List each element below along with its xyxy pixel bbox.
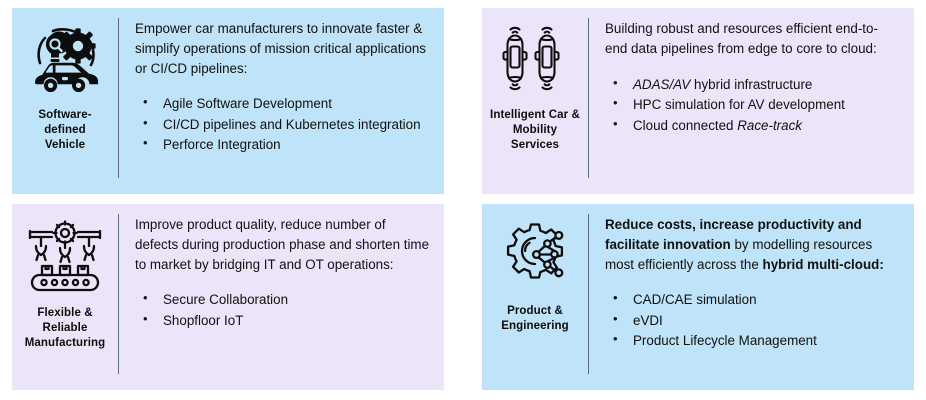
list-item: Perforce Integration bbox=[135, 135, 430, 154]
text-column: Building robust and resources efficient … bbox=[589, 8, 914, 194]
panel-description: Improve product quality, reduce number o… bbox=[135, 215, 430, 274]
panel-flexible-reliable-manufacturing[interactable]: Flexible & Reliable Manufacturing Improv… bbox=[12, 204, 444, 390]
icon-column: Software- defined Vehicle bbox=[12, 8, 118, 194]
bullet-list: ADAS/AV hybrid infrastructure HPC simula… bbox=[605, 75, 900, 136]
panel-product-engineering[interactable]: Product & Engineering Reduce costs, incr… bbox=[482, 204, 914, 390]
car-with-gear-and-search-icon bbox=[23, 18, 107, 102]
list-item: HPC simulation for AV development bbox=[605, 95, 900, 114]
list-item: Agile Software Development bbox=[135, 94, 430, 113]
panel-description: Building robust and resources efficient … bbox=[605, 19, 900, 59]
panel-title-intelligent-car-mobility-services: Intelligent Car & Mobility Services bbox=[490, 108, 580, 154]
list-item-emphasis: ADAS/AV bbox=[633, 77, 690, 92]
panel-title-flexible-reliable-manufacturing: Flexible & Reliable Manufacturing bbox=[25, 306, 106, 352]
bullet-list: Secure Collaboration Shopfloor IoT bbox=[135, 290, 430, 331]
list-item: Shopfloor IoT bbox=[135, 311, 430, 330]
list-item: Secure Collaboration bbox=[135, 290, 430, 309]
panel-title-product-engineering: Product & Engineering bbox=[501, 304, 569, 334]
list-item: CI/CD pipelines and Kubernetes integrati… bbox=[135, 115, 430, 134]
list-item: Product Lifecycle Management bbox=[605, 331, 900, 350]
list-item: CAD/CAE simulation bbox=[605, 290, 900, 309]
panel-intelligent-car-mobility-services[interactable]: Intelligent Car & Mobility Services Buil… bbox=[482, 8, 914, 194]
icon-column: Product & Engineering bbox=[482, 204, 588, 390]
list-item: ADAS/AV hybrid infrastructure bbox=[605, 75, 900, 94]
four-quadrant-use-case-board: Software- defined Vehicle Empower car ma… bbox=[0, 0, 926, 400]
panel-software-defined-vehicle[interactable]: Software- defined Vehicle Empower car ma… bbox=[12, 8, 444, 194]
list-item-emphasis: Race-track bbox=[737, 118, 802, 133]
conveyor-belt-robot-arms-icon bbox=[23, 214, 107, 300]
text-column: Empower car manufacturers to innovate fa… bbox=[119, 8, 444, 194]
text-column: Reduce costs, increase productivity and … bbox=[589, 204, 914, 390]
panel-title-software-defined-vehicle: Software- defined Vehicle bbox=[38, 108, 91, 154]
icon-column: Flexible & Reliable Manufacturing bbox=[12, 204, 118, 390]
bullet-list: Agile Software Development CI/CD pipelin… bbox=[135, 94, 430, 155]
bullet-list: CAD/CAE simulation eVDI Product Lifecycl… bbox=[605, 290, 900, 351]
list-item: eVDI bbox=[605, 311, 900, 330]
description-bold-tail: hybrid multi-cloud: bbox=[763, 257, 884, 272]
text-column: Improve product quality, reduce number o… bbox=[119, 204, 444, 390]
panel-description: Empower car manufacturers to innovate fa… bbox=[135, 19, 430, 78]
gear-network-nodes-icon bbox=[493, 214, 577, 298]
two-connected-cars-topview-icon bbox=[493, 18, 577, 102]
list-item: Cloud connected Race-track bbox=[605, 116, 900, 135]
icon-column: Intelligent Car & Mobility Services bbox=[482, 8, 588, 194]
panel-description: Reduce costs, increase productivity and … bbox=[605, 215, 900, 274]
